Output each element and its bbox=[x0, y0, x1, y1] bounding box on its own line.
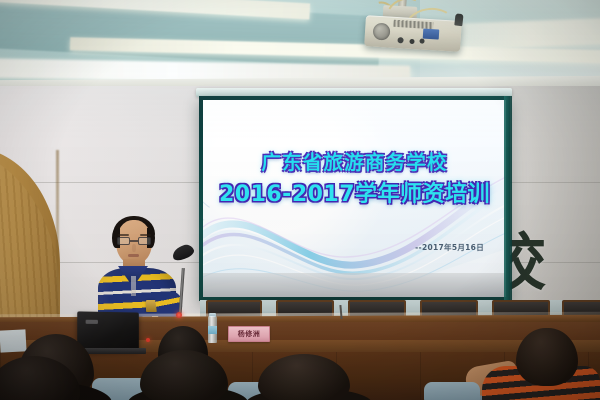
right-attendee-head bbox=[516, 328, 578, 386]
slide-subtitle: 2016-2017学年师资培训 bbox=[203, 176, 506, 208]
presenter-mouth bbox=[128, 254, 139, 257]
laptop-led-indicator bbox=[146, 338, 150, 342]
water-bottle-label bbox=[208, 326, 217, 334]
desk-nameplate: 杨修洲 bbox=[228, 326, 270, 342]
projector-adjust-knob bbox=[454, 13, 463, 26]
projector-vga-port bbox=[423, 29, 440, 40]
slide-date-line: --2017年5月16日 bbox=[415, 242, 484, 253]
presenter-eyebrow-right bbox=[140, 234, 151, 236]
microphone-led-indicator bbox=[176, 312, 182, 318]
desk-nameplate-text: 杨修洲 bbox=[238, 329, 261, 339]
projector-vent bbox=[393, 20, 433, 29]
presenter-shirt-placket bbox=[131, 276, 136, 296]
presenter-nose bbox=[132, 244, 136, 252]
projector-port-1 bbox=[397, 37, 403, 43]
chair-3 bbox=[424, 382, 480, 400]
paper-sheet bbox=[0, 329, 27, 352]
projector-port-2 bbox=[409, 39, 414, 44]
presenter-laptop-screen bbox=[77, 311, 139, 350]
slide-title: 广东省旅游商务学校 bbox=[203, 146, 506, 175]
screen-lower-shadow-band bbox=[203, 273, 506, 297]
projection-screen-surface: 广东省旅游商务学校 2016-2017学年师资培训 --2017年5月16日 bbox=[203, 100, 506, 297]
presenter-eyebrow-left bbox=[118, 234, 129, 236]
projector-port-3 bbox=[419, 38, 424, 43]
projection-screen-frame: 广东省旅游商务学校 2016-2017学年师资培训 --2017年5月16日 bbox=[199, 96, 510, 301]
ceiling-projector bbox=[364, 15, 462, 52]
photo-scene: 校 bbox=[0, 0, 600, 400]
projector-lens bbox=[373, 23, 391, 41]
laptop-logo bbox=[86, 320, 98, 324]
